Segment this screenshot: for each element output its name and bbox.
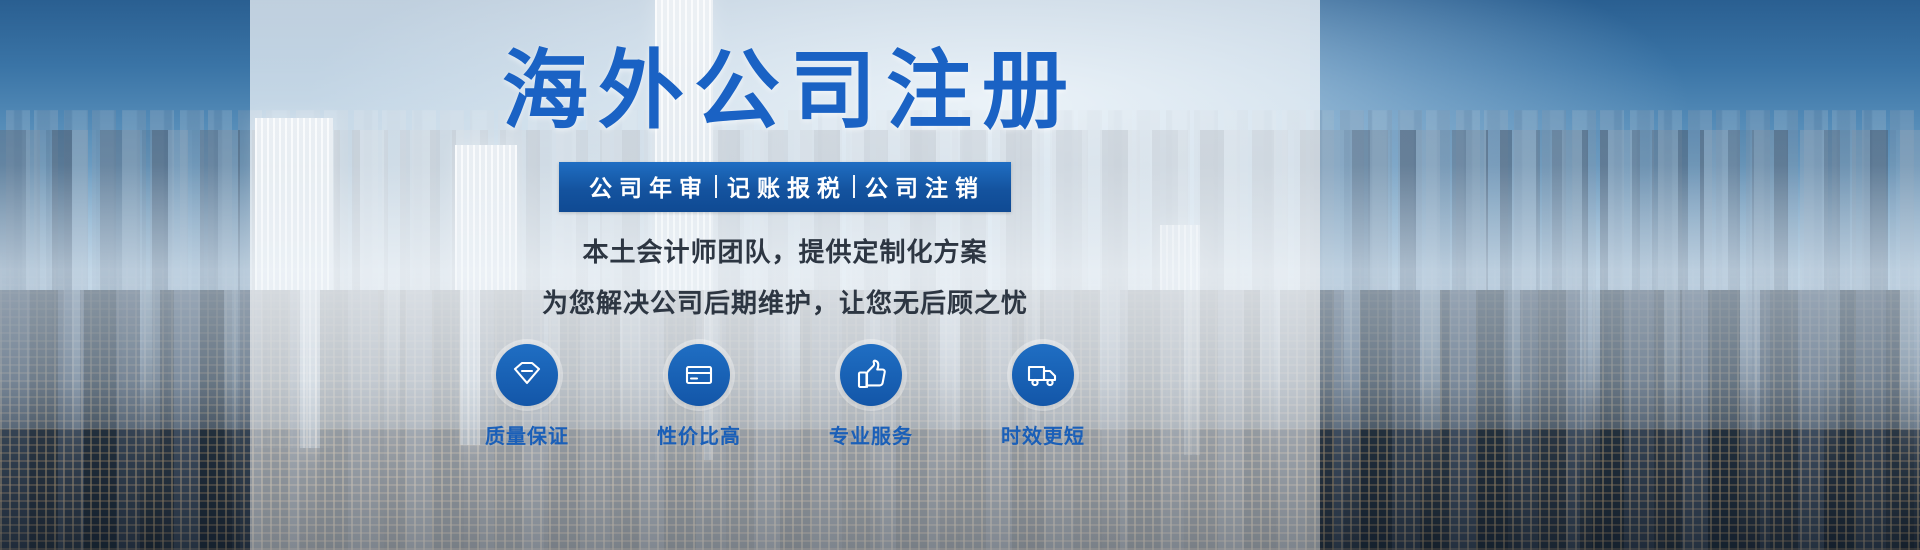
feature-label: 时效更短: [1001, 420, 1085, 449]
thumbs-up-icon: [840, 344, 902, 406]
service-tags-bar: 公司年审 记账报税 公司注销: [559, 162, 1011, 212]
feature-label: 质量保证: [485, 420, 569, 449]
diamond-icon: [496, 344, 558, 406]
feature-item-price[interactable]: 性价比高: [639, 344, 759, 449]
feature-label: 专业服务: [829, 420, 913, 449]
banner-title: 海外公司注册: [492, 48, 1078, 134]
banner-body-line-2: 为您解决公司后期维护，让您无后顾之忧: [542, 283, 1028, 320]
card-icon: [668, 344, 730, 406]
feature-list: 质量保证 性价比高: [467, 344, 1103, 449]
feature-item-service[interactable]: 专业服务: [811, 344, 931, 449]
service-tag-1: 公司年审: [589, 169, 709, 203]
banner-body-line-1: 本土会计师团队，提供定制化方案: [582, 232, 987, 269]
separator-icon: [853, 175, 855, 198]
service-tag-3: 公司注销: [865, 169, 985, 203]
feature-label: 性价比高: [657, 420, 741, 449]
separator-icon: [715, 175, 717, 198]
feature-item-speed[interactable]: 时效更短: [983, 344, 1103, 449]
promo-banner: 海外公司注册 公司年审 记账报税 公司注销 本土会计师团队，提供定制化方案 为您…: [0, 0, 1920, 550]
feature-item-quality[interactable]: 质量保证: [467, 344, 587, 449]
banner-content: 海外公司注册 公司年审 记账报税 公司注销 本土会计师团队，提供定制化方案 为您…: [250, 0, 1320, 550]
service-tag-2: 记账报税: [727, 169, 847, 203]
truck-icon: [1012, 344, 1074, 406]
